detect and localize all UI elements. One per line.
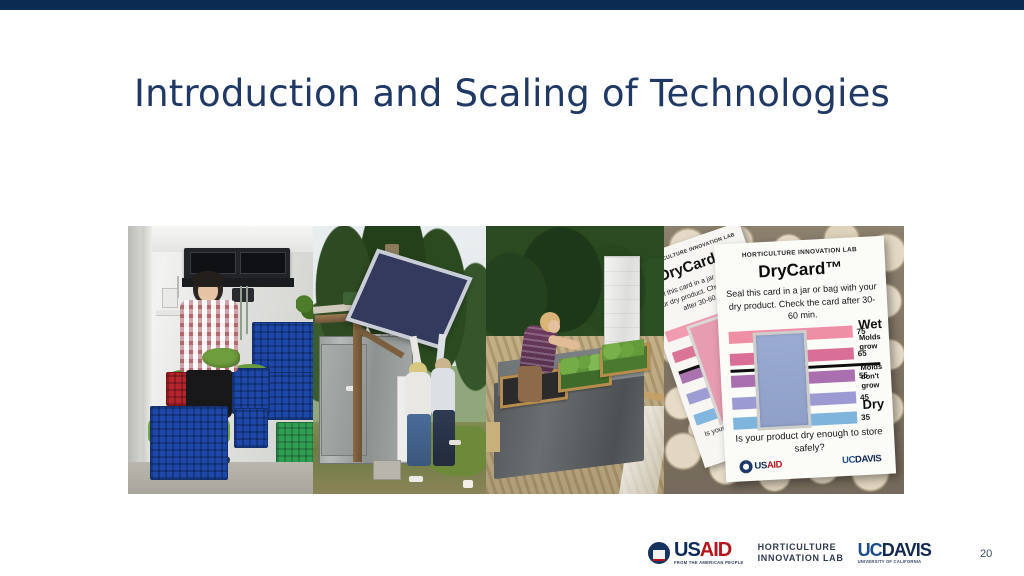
- footer-logo-bar: USAID FROM THE AMERICAN PEOPLE HORTICULT…: [648, 536, 988, 570]
- top-accent-bar: [0, 0, 1024, 10]
- person-fringe: [192, 271, 224, 287]
- ucdavis-tagline: UNIVERSITY OF CALIFORNIA: [858, 560, 931, 564]
- usaid-aid-text: AID: [767, 459, 783, 471]
- person-a-torso: [405, 372, 431, 418]
- person-a-legs: [407, 414, 431, 466]
- person-b-torso: [431, 368, 455, 414]
- ucdavis-davis-text: DAVIS: [882, 540, 931, 560]
- usaid-us-text: US: [754, 460, 767, 472]
- concrete-block: [373, 460, 401, 480]
- drycard-usaid-logo: USAID: [739, 458, 782, 473]
- straw-bale: [486, 422, 500, 452]
- label-molds-dont-grow: Molds don't grow: [860, 362, 891, 391]
- blue-crate-foreground: [150, 406, 228, 480]
- ucdavis-davis-text: DAVIS: [855, 453, 882, 465]
- label-dry: Dry: [862, 396, 884, 412]
- usaid-us-text: US: [674, 539, 700, 561]
- person-b-legs: [433, 410, 455, 466]
- cold-room-photo: [128, 226, 313, 494]
- humidity-indicator-strip: [753, 330, 812, 431]
- ground-debris: [449, 440, 461, 445]
- scale-number-35: 35: [861, 413, 870, 422]
- wall-outlet-box: [162, 288, 178, 308]
- ucdavis-uc-text: UC: [858, 540, 882, 560]
- ucdavis-logo: UCDAVIS UNIVERSITY OF CALIFORNIA: [858, 541, 931, 564]
- label-wet: Wet: [858, 316, 882, 332]
- solar-panel-install-photo: [313, 226, 486, 494]
- drycard-ucdavis-logo: UCDAVIS: [842, 453, 882, 466]
- person-face: [548, 320, 560, 333]
- ucdavis-uc-text: UC: [842, 455, 855, 467]
- page-title: Introduction and Scaling of Technologies: [0, 72, 1024, 115]
- label-molds-grow: Molds grow: [859, 332, 890, 352]
- blue-crate: [234, 408, 268, 448]
- held-greens: [202, 348, 240, 368]
- person-legs: [518, 366, 542, 402]
- cold-room-doorframe: [128, 226, 143, 494]
- wooden-beam-vertical: [353, 314, 362, 462]
- ground-debris: [409, 476, 423, 482]
- page-number: 20: [980, 548, 992, 560]
- usaid-seal-icon: [648, 542, 670, 564]
- cable-1: [240, 286, 242, 340]
- drycard-instructions: Seal this card in a jar or bag with your…: [725, 280, 879, 325]
- usaid-logo: USAID FROM THE AMERICAN PEOPLE: [648, 540, 744, 565]
- ground-debris: [463, 480, 473, 488]
- usaid-wordmark: USAID FROM THE AMERICAN PEOPLE: [674, 540, 744, 565]
- horticulture-innovation-lab-logo: HORTICULTURE INNOVATION LAB: [758, 542, 844, 564]
- corner-plant: [296, 292, 313, 322]
- hort-line-2: INNOVATION LAB: [758, 553, 844, 564]
- coolbot-controller: [232, 288, 254, 302]
- hort-line-1: HORTICULTURE: [758, 542, 844, 553]
- usaid-seal-icon: [739, 460, 753, 474]
- usaid-aid-text: AID: [700, 539, 731, 561]
- cable-2: [246, 286, 248, 334]
- photo-strip: HORTICULTURE INNOVATION LAB DryCard™ Sea…: [128, 226, 904, 494]
- solar-dryer-photo: [486, 226, 664, 494]
- drycard-front: HORTICULTURE INNOVATION LAB DryCard™ Sea…: [714, 236, 896, 483]
- drycard-photo: HORTICULTURE INNOVATION LAB DryCard™ Sea…: [664, 226, 904, 494]
- cable-3: [177, 276, 179, 298]
- usaid-tagline: FROM THE AMERICAN PEOPLE: [674, 561, 744, 565]
- evaporator-grill-right: [240, 252, 286, 274]
